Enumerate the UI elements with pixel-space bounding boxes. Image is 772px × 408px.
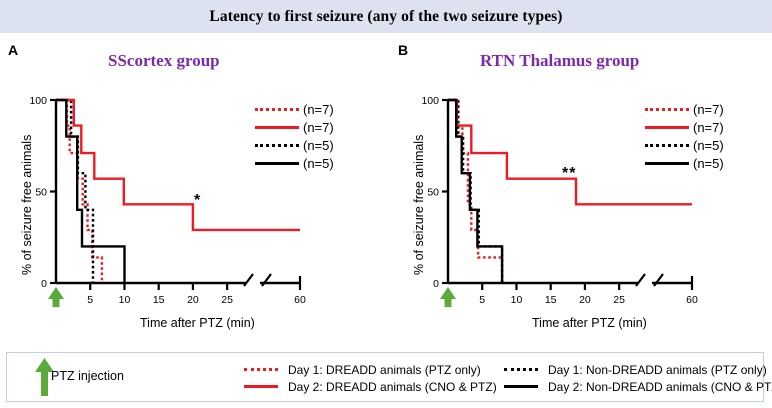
legend-label: (n=7) [693, 121, 724, 134]
legend-label: (n=5) [303, 139, 334, 152]
legend-label: (n=5) [693, 157, 724, 170]
bottom-legend-col-dreadd: Day 1: DREADD animals (PTZ only) Day 2: … [244, 361, 497, 395]
svg-text:100: 100 [29, 95, 47, 107]
bottom-legend-item: Day 2: DREADD animals (CNO & PTZ) [244, 378, 497, 395]
legend-label: (n=5) [303, 157, 334, 170]
svg-text:0: 0 [433, 278, 439, 290]
legend-item: (n=5) [255, 136, 334, 154]
bottom-legend-item: Day 1: Non-DREADD animals (PTZ only) [504, 361, 772, 378]
svg-text:25: 25 [221, 294, 233, 306]
bottom-legend-item: Day 1: DREADD animals (PTZ only) [244, 361, 497, 378]
legend-panel-b: (n=7) (n=7) (n=5) (n=5) [645, 100, 724, 172]
legend-label: (n=7) [303, 121, 334, 134]
y-axis-label-a: % of seizure free animals [20, 135, 34, 275]
svg-text:50: 50 [35, 187, 47, 199]
red-solid-line-icon [244, 385, 278, 388]
bottom-legend-label: Day 2: DREADD animals (CNO & PTZ) [288, 381, 497, 393]
red-dotted-line-icon [255, 108, 299, 111]
black-dotted-line-icon [645, 144, 689, 147]
legend-item: (n=7) [255, 100, 334, 118]
black-solid-line-icon [645, 162, 689, 165]
bottom-legend-item: Day 2: Non-DREADD animals (CNO & PTZ) [504, 378, 772, 395]
svg-text:5: 5 [87, 294, 93, 306]
svg-text:60: 60 [686, 294, 698, 306]
panel-label-b: B [398, 42, 408, 58]
black-dotted-line-icon [504, 368, 538, 371]
panel-label-a: A [8, 42, 18, 58]
legend-item: (n=5) [645, 154, 724, 172]
legend-item: (n=7) [645, 118, 724, 136]
svg-text:10: 10 [119, 294, 131, 306]
legend-label: (n=5) [693, 139, 724, 152]
red-solid-line-icon [645, 126, 689, 129]
legend-panel-a: (n=7) (n=7) (n=5) (n=5) [255, 100, 334, 172]
legend-label: (n=7) [303, 103, 334, 116]
figure-title-bar: Latency to first seizure (any of the two… [0, 0, 772, 33]
svg-text:10: 10 [511, 294, 523, 306]
panel-title-a: SScortex group [108, 51, 220, 71]
ptz-injection-label: PTZ injection [51, 369, 124, 383]
bottom-legend-col-nondreadd: Day 1: Non-DREADD animals (PTZ only) Day… [504, 361, 772, 395]
significance-marker-b: ** [562, 165, 576, 183]
svg-text:20: 20 [579, 294, 591, 306]
bottom-legend-label: Day 1: Non-DREADD animals (PTZ only) [548, 364, 767, 376]
x-axis-label-a: Time after PTZ (min) [140, 316, 255, 330]
bottom-legend-label: Day 1: DREADD animals (PTZ only) [288, 364, 481, 376]
legend-item: (n=7) [645, 100, 724, 118]
y-axis-label-b: % of seizure free animals [412, 135, 426, 275]
significance-marker-a: * [194, 192, 201, 210]
svg-text:0: 0 [41, 278, 47, 290]
x-axis-label-b: Time after PTZ (min) [532, 316, 647, 330]
svg-text:60: 60 [294, 294, 306, 306]
panel-title-b: RTN Thalamus group [480, 51, 639, 71]
svg-text:100: 100 [421, 95, 439, 107]
svg-text:15: 15 [545, 294, 557, 306]
black-solid-line-icon [255, 162, 299, 165]
svg-text:50: 50 [427, 187, 439, 199]
red-dotted-line-icon [645, 108, 689, 111]
svg-text:5: 5 [479, 294, 485, 306]
svg-text:25: 25 [613, 294, 625, 306]
legend-item: (n=5) [255, 154, 334, 172]
red-dotted-line-icon [244, 368, 278, 371]
black-solid-line-icon [504, 385, 538, 388]
legend-item: (n=7) [255, 118, 334, 136]
red-solid-line-icon [255, 126, 299, 129]
legend-item: (n=5) [645, 136, 724, 154]
legend-label: (n=7) [693, 103, 724, 116]
black-dotted-line-icon [255, 144, 299, 147]
svg-text:15: 15 [153, 294, 165, 306]
svg-text:20: 20 [187, 294, 199, 306]
figure-root: Latency to first seizure (any of the two… [0, 0, 772, 408]
bottom-legend-box: PTZ injection Day 1: DREADD animals (PTZ… [6, 352, 764, 402]
bottom-legend-label: Day 2: Non-DREADD animals (CNO & PTZ) [548, 381, 772, 393]
figure-title: Latency to first seizure (any of the two… [209, 8, 562, 26]
